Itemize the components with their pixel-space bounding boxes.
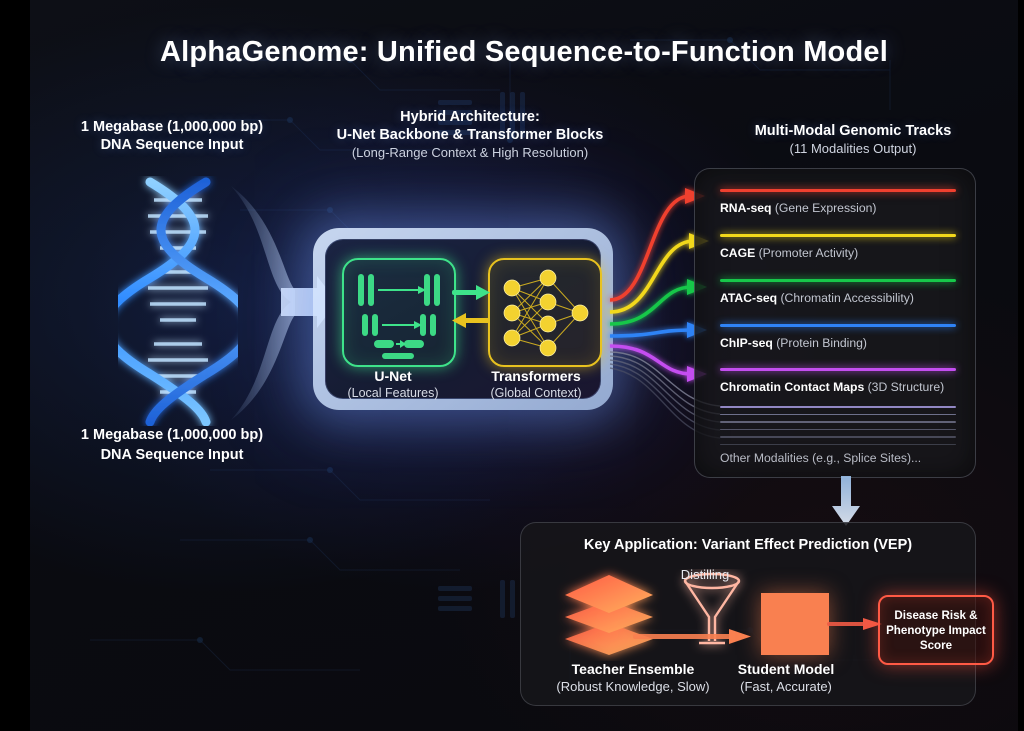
impact-score-text: Disease Risk & Phenotype Impact Score [880, 608, 992, 653]
other-modality-line [720, 414, 956, 416]
student-subtitle: (Fast, Accurate) [716, 678, 856, 696]
track-line-rna-seq [720, 189, 956, 192]
architecture-heading: Hybrid Architecture: U-Net Backbone & Tr… [318, 108, 622, 162]
student-caption: Student Model (Fast, Accurate) [716, 660, 856, 696]
letterbox-right [1018, 0, 1024, 731]
track-rna-seq[interactable]: RNA-seq (Gene Expression) [720, 189, 956, 215]
other-modality-line [720, 421, 956, 423]
transformer-subtitle: (Global Context) [466, 385, 606, 402]
other-modality-line [720, 436, 956, 438]
other-modalities-label: Other Modalities (e.g., Splice Sites)... [720, 451, 956, 465]
tracks-heading-text: Multi-Modal Genomic Tracks [702, 122, 1004, 140]
other-modality-line [720, 429, 956, 431]
funnel-icon [669, 569, 755, 661]
square-block-icon[interactable] [761, 593, 829, 655]
neural-network-icon [490, 260, 600, 365]
other-modality-line [720, 444, 956, 446]
tracks-subheading: (11 Modalities Output) [702, 140, 1004, 158]
dna-input-label-top: 1 Megabase (1,000,000 bp) DNA Sequence I… [52, 118, 292, 154]
track-label-atac-seq: ATAC-seq (Chromatin Accessibility) [720, 291, 956, 305]
track-label-rna-seq: RNA-seq (Gene Expression) [720, 201, 956, 215]
bidirectional-arrows [452, 280, 490, 338]
dna-input-label-bottom-line1: 1 Megabase (1,000,000 bp) [52, 425, 292, 445]
track-line-cage [720, 234, 956, 237]
teacher-to-student-arrow [633, 627, 753, 647]
diagram-canvas: AlphaGenome: Unified Sequence-to-Functio… [0, 0, 1024, 731]
track-label-cage: CAGE (Promoter Activity) [720, 246, 956, 260]
track-label-chip-seq: ChIP-seq (Protein Binding) [720, 336, 956, 350]
track-chip-seq[interactable]: ChIP-seq (Protein Binding) [720, 324, 956, 350]
dna-input-label-bottom-line2: DNA Sequence Input [52, 445, 292, 465]
tracks-heading: Multi-Modal Genomic Tracks (11 Modalitie… [702, 122, 1004, 158]
track-line-chip-seq [720, 324, 956, 327]
letterbox-left [0, 0, 30, 731]
vep-title: Key Application: Variant Effect Predicti… [521, 537, 975, 553]
impact-score-box[interactable]: Disease Risk & Phenotype Impact Score [878, 595, 994, 665]
student-to-score-arrow [827, 615, 883, 635]
transformer-caption: Transformers (Global Context) [466, 367, 606, 402]
architecture-heading-line2: U-Net Backbone & Transformer Blocks [318, 126, 622, 144]
track-cage[interactable]: CAGE (Promoter Activity) [720, 234, 956, 260]
unet-caption: U-Net (Local Features) [323, 367, 463, 402]
down-arrow-icon [831, 476, 861, 526]
track-chromatin-contact-maps[interactable]: Chromatin Contact Maps (3D Structure) [720, 368, 956, 394]
diagram-content: AlphaGenome: Unified Sequence-to-Functio… [30, 0, 1018, 731]
transformer-title: Transformers [466, 367, 606, 385]
dna-input-label-top-line1: 1 Megabase (1,000,000 bp) [52, 118, 292, 136]
other-modalities-group[interactable]: Other Modalities (e.g., Splice Sites)... [720, 406, 956, 465]
unet-title: U-Net [323, 367, 463, 385]
unet-subtitle: (Local Features) [323, 385, 463, 402]
teacher-title: Teacher Ensemble [535, 660, 731, 678]
dna-double-helix-icon [118, 176, 238, 426]
dna-input-label-bottom: 1 Megabase (1,000,000 bp) DNA Sequence I… [52, 425, 292, 465]
teacher-subtitle: (Robust Knowledge, Slow) [535, 678, 731, 696]
architecture-subheading: (Long-Range Context & High Resolution) [318, 144, 622, 162]
architecture-heading-line1: Hybrid Architecture: [318, 108, 622, 126]
transformer-block[interactable] [488, 258, 602, 367]
other-modality-line [720, 406, 956, 408]
unet-block[interactable] [342, 258, 456, 367]
page-title: AlphaGenome: Unified Sequence-to-Functio… [30, 36, 1018, 69]
unet-diagram-icon [344, 260, 454, 365]
track-atac-seq[interactable]: ATAC-seq (Chromatin Accessibility) [720, 279, 956, 305]
track-label-chromatin: Chromatin Contact Maps (3D Structure) [720, 380, 956, 394]
student-title: Student Model [716, 660, 856, 678]
distilling-label: Distilling [650, 567, 760, 582]
genomic-tracks-panel: RNA-seq (Gene Expression) CAGE (Promoter… [694, 168, 976, 478]
track-line-chromatin [720, 368, 956, 371]
teacher-caption: Teacher Ensemble (Robust Knowledge, Slow… [535, 660, 731, 696]
track-line-atac-seq [720, 279, 956, 282]
dna-input-label-top-line2: DNA Sequence Input [52, 136, 292, 154]
